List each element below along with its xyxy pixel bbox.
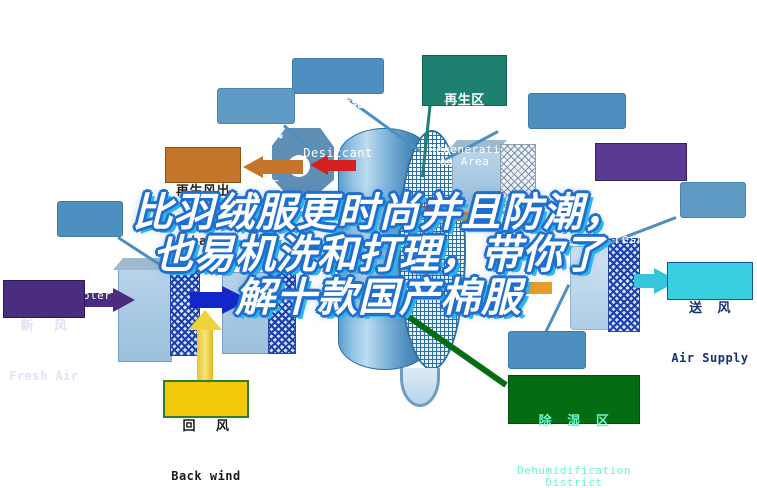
- label-cooler-left[interactable]: 冷却器 Cooler: [57, 201, 123, 237]
- label-regeneration-fresh-air-cn: 再生风进: [596, 183, 686, 198]
- label-back-wind[interactable]: 回 风 Back wind: [163, 380, 249, 418]
- rotor-label-x1: x1: [372, 306, 386, 319]
- label-fresh-air[interactable]: 新 风 Fresh Air: [3, 280, 85, 318]
- label-air-supply-en: Air Supply: [668, 352, 752, 365]
- label-dehumidification-district-en: Dehumidification District: [509, 465, 639, 488]
- schematic-canvas: x1: [0, 0, 757, 488]
- label-fresh-air-cn: 新 风: [4, 320, 84, 335]
- label-regeneration-area-en: Regenerati on Area: [423, 144, 506, 169]
- label-regeneration-area-cn: 再生区: [423, 94, 506, 109]
- label-dehumidification-district[interactable]: 除 湿 区 Dehumidification District: [508, 375, 640, 424]
- label-cooler-right[interactable]: 冷却器 Cooler: [680, 182, 746, 218]
- label-regeneration-area[interactable]: 再生区 Regenerati on Area: [422, 55, 507, 106]
- label-air-supply-cn: 送 风: [668, 302, 752, 317]
- label-back-wind-cn: 回 风: [165, 420, 247, 435]
- label-exhaust-cn: 再生风出: [166, 185, 240, 200]
- label-regeneration-blower-cn: 再生风机: [218, 127, 294, 142]
- left-cooler-housing: [118, 268, 172, 362]
- label-desiccant-wheel-cn: 除湿转轮: [293, 97, 383, 112]
- label-regeneration-fresh-air[interactable]: 再生风进 Fresh Air: [595, 143, 687, 181]
- mid-left-coil: [268, 268, 296, 354]
- label-cooler-left-cn: 冷却器: [58, 240, 122, 255]
- label-fresh-air-en: Fresh Air: [4, 370, 84, 383]
- label-dehumidification-district-cn: 除 湿 区: [509, 415, 639, 430]
- drip-ribbon: [400, 368, 440, 407]
- label-regeneration-heater[interactable]: 再生加热器 heater: [528, 93, 626, 129]
- rotor-red-strip: [398, 206, 438, 214]
- heater-orange-strip: [432, 212, 494, 221]
- label-dehumidify-blower[interactable]: 除湿风机 Blower: [508, 331, 586, 369]
- label-back-wind-en: Back wind: [165, 470, 247, 483]
- label-regeneration-blower[interactable]: 再生风机 Blower: [217, 88, 295, 124]
- label-desiccant-wheel[interactable]: 除湿转轮 Desiccant: [292, 58, 384, 94]
- label-regeneration-fresh-air-en: Fresh Air: [596, 233, 686, 246]
- label-desiccant-wheel-en: Desiccant: [293, 147, 383, 160]
- label-exhaust[interactable]: 再生风出 Exhaust: [165, 147, 241, 183]
- label-air-supply[interactable]: 送 风 Air Supply: [667, 262, 753, 300]
- label-exhaust-en: Exhaust: [166, 235, 240, 248]
- label-cooler-right-cn: 冷却器: [681, 221, 745, 236]
